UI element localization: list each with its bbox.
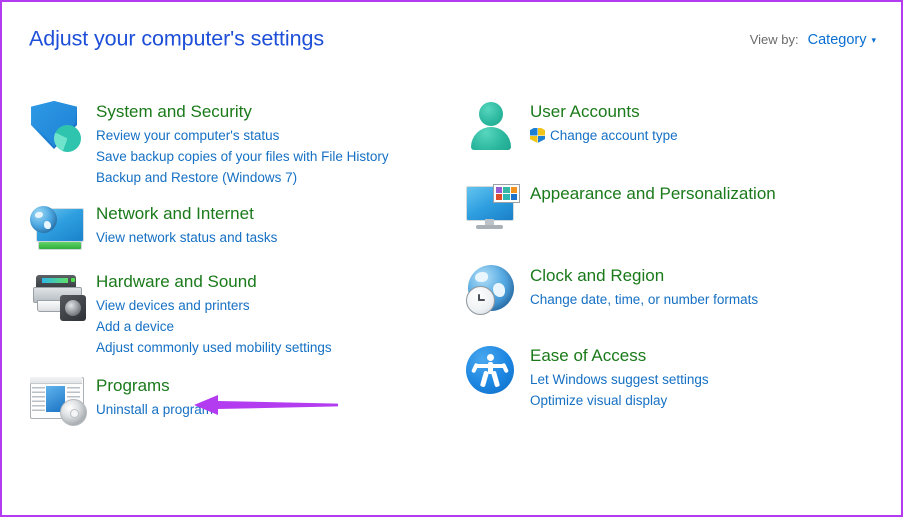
category-appearance-and-personalization[interactable]: Appearance and Personalization bbox=[462, 180, 892, 238]
window-disc-icon bbox=[28, 372, 86, 430]
color-swatch bbox=[511, 187, 517, 193]
category-ease-of-access[interactable]: Ease of Access Let Windows suggest setti… bbox=[462, 342, 892, 411]
header: Adjust your computer's settings View by:… bbox=[2, 2, 901, 76]
control-panel-window: Adjust your computer's settings View by:… bbox=[0, 0, 903, 517]
category-title[interactable]: Clock and Region bbox=[530, 265, 664, 287]
link-change-date-time[interactable]: Change date, time, or number formats bbox=[530, 289, 758, 310]
person-icon bbox=[462, 98, 520, 156]
link-change-account-type[interactable]: Change account type bbox=[530, 125, 678, 146]
category-column-right: User Accounts Change account type bbox=[462, 98, 892, 425]
chevron-down-icon[interactable]: ▾ bbox=[871, 35, 876, 46]
color-swatch bbox=[496, 194, 502, 200]
link-view-devices[interactable]: View devices and printers bbox=[96, 295, 332, 316]
category-column-left: System and Security Review your computer… bbox=[28, 98, 458, 444]
link-add-device[interactable]: Add a device bbox=[96, 316, 332, 337]
category-title[interactable]: System and Security bbox=[96, 101, 252, 123]
category-programs[interactable]: Programs Uninstall a program bbox=[28, 372, 458, 430]
link-network-status[interactable]: View network status and tasks bbox=[96, 227, 277, 248]
view-by-value[interactable]: Category bbox=[808, 32, 867, 48]
view-by-label: View by: bbox=[750, 32, 799, 47]
category-title[interactable]: Appearance and Personalization bbox=[530, 183, 776, 205]
category-title[interactable]: Hardware and Sound bbox=[96, 271, 257, 293]
category-title[interactable]: User Accounts bbox=[530, 101, 640, 123]
globe-clock-icon bbox=[462, 262, 520, 320]
page-title: Adjust your computer's settings bbox=[29, 27, 324, 52]
link-label: Change account type bbox=[550, 125, 678, 146]
category-network-and-internet[interactable]: Network and Internet View network status… bbox=[28, 200, 458, 258]
color-swatch bbox=[511, 194, 517, 200]
category-hardware-and-sound[interactable]: Hardware and Sound View devices and prin… bbox=[28, 268, 458, 358]
monitor-globe-icon bbox=[28, 200, 86, 258]
link-file-history[interactable]: Save backup copies of your files with Fi… bbox=[96, 146, 389, 167]
category-title[interactable]: Programs bbox=[96, 375, 170, 397]
color-swatch bbox=[503, 194, 509, 200]
color-swatch-grid bbox=[493, 184, 520, 203]
uac-shield-icon bbox=[530, 128, 545, 143]
link-backup-restore[interactable]: Backup and Restore (Windows 7) bbox=[96, 167, 389, 188]
view-by-control[interactable]: View by: Category ▾ bbox=[750, 32, 876, 48]
link-mobility-settings[interactable]: Adjust commonly used mobility settings bbox=[96, 337, 332, 358]
category-system-and-security[interactable]: System and Security Review your computer… bbox=[28, 98, 458, 188]
monitor-swatches-icon bbox=[462, 180, 520, 238]
color-swatch bbox=[503, 187, 509, 193]
shield-chart-icon bbox=[28, 98, 86, 156]
category-title[interactable]: Ease of Access bbox=[530, 345, 646, 367]
accessibility-icon bbox=[462, 342, 520, 400]
category-user-accounts[interactable]: User Accounts Change account type bbox=[462, 98, 892, 156]
link-optimize-visual-display[interactable]: Optimize visual display bbox=[530, 390, 709, 411]
printer-speaker-icon bbox=[28, 268, 86, 326]
category-title[interactable]: Network and Internet bbox=[96, 203, 254, 225]
link-uninstall-program[interactable]: Uninstall a program bbox=[96, 399, 213, 420]
color-swatch bbox=[496, 187, 502, 193]
link-suggest-settings[interactable]: Let Windows suggest settings bbox=[530, 369, 709, 390]
link-review-status[interactable]: Review your computer's status bbox=[96, 125, 389, 146]
category-clock-and-region[interactable]: Clock and Region Change date, time, or n… bbox=[462, 262, 892, 320]
